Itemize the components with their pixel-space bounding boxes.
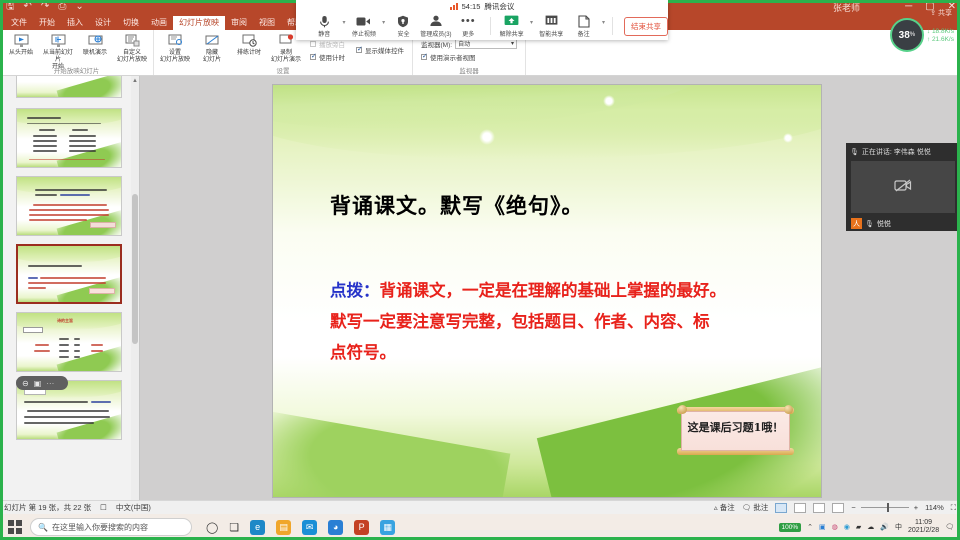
slide-body-text[interactable]: 点拨：背诵课文，一定是在理解的基础上掌握的最好。 默写一定要注意写完整，包括题目… xyxy=(330,275,800,368)
video-caret-icon[interactable]: ▾ xyxy=(380,19,387,33)
note-icon xyxy=(578,15,590,28)
ribbon-group-start-slideshow: 从头开始 从当前幻灯片 开始 联机演示 自定义 幻灯片放映 开始放映 xyxy=(0,30,154,75)
comment-icon[interactable]: ▣ xyxy=(34,379,42,388)
network-upload-label: ↑ 21.6K/s xyxy=(927,36,954,43)
volume-icon[interactable]: 🔊 xyxy=(880,523,889,531)
presenter-view-label: 使用演示者视图 xyxy=(430,52,476,62)
chevron-up-icon[interactable]: ⌃ xyxy=(807,523,813,531)
use-timings-label: 使用计时 xyxy=(319,52,345,62)
use-timings-checkbox[interactable] xyxy=(310,54,316,60)
list-item[interactable] xyxy=(16,76,122,98)
video-tile-header: 🎙 正在讲话: 李伟森 悦悦 xyxy=(846,143,960,160)
setup-slideshow-button[interactable]: 设置 幻灯片放映 xyxy=(158,31,192,66)
scroll-banner-text: 这是课后习题1哦！ xyxy=(677,419,794,435)
smart-share-button[interactable]: 智能共享 xyxy=(535,15,567,38)
zoom-handle[interactable] xyxy=(887,503,889,512)
slide-count-label[interactable]: 幻灯片 第 19 张，共 22 张 xyxy=(4,502,91,513)
mute-caret-icon[interactable]: ▾ xyxy=(340,19,347,33)
signal-bars-icon xyxy=(450,3,458,10)
ribbon-tab-3[interactable]: 设计 xyxy=(89,16,117,30)
antivirus-icon[interactable]: ◍ xyxy=(832,523,838,531)
file-explorer-icon[interactable]: ▤ xyxy=(276,520,291,535)
network-speed-widget[interactable]: 38% ↓ 18.8K/s ↑ 21.6K/s xyxy=(890,18,954,52)
share-icon: ⇪ xyxy=(930,10,938,17)
presenter-view-row[interactable]: 使用演示者视图 xyxy=(421,52,517,62)
presenter-view-checkbox[interactable] xyxy=(421,54,427,60)
slide-canvas[interactable]: 背诵课文。默写《绝句》。 点拨：背诵课文，一定是在理解的基础上掌握的最好。 默写… xyxy=(273,85,821,497)
show-media-controls-row[interactable]: 显示媒体控件 xyxy=(356,45,404,55)
decor-sparkle-1 xyxy=(479,129,495,145)
present-online-button[interactable]: 联机演示 xyxy=(78,31,112,66)
network-percent-unit: % xyxy=(910,32,915,38)
slide-body-line-2: 默写一定要注意写完整，包括题目、作者、内容、标 xyxy=(330,312,710,331)
list-item[interactable]: 20 ★ 诗的主旨 xyxy=(16,312,122,372)
monitor-select[interactable]: 自动 ▾ xyxy=(455,39,517,49)
setup-slideshow-label: 设置 幻灯片放映 xyxy=(160,50,190,64)
screen-share-icon xyxy=(504,15,519,28)
play-from-start-icon xyxy=(13,33,30,49)
fit-slide-icon[interactable]: ⛶ xyxy=(951,503,956,513)
thumbnail-image[interactable] xyxy=(16,176,122,236)
photos-icon[interactable]: ▦ xyxy=(380,520,395,535)
powerpoint-window: 🖫 ↶ ↷ ⎙ ⌄ 张老师 ─ ▢ ✕ ⇪ 共享 文件开始插入设计切换动画幻灯片… xyxy=(0,0,960,540)
powerpoint-icon[interactable]: P xyxy=(354,520,369,535)
windows-start-icon[interactable] xyxy=(0,520,30,534)
show-media-controls-label: 显示媒体控件 xyxy=(365,45,404,55)
camera-icon xyxy=(356,15,371,28)
ribbon-group-label-setup: 设置 xyxy=(154,65,412,75)
custom-slideshow-label: 自定义 幻灯片放映 xyxy=(117,50,147,64)
network-download-label: ↓ 18.8K/s xyxy=(927,28,954,35)
thumbnail-hover-toolbar[interactable]: ⊖ ▣ ⋯ xyxy=(16,376,68,390)
ribbon-tab-7[interactable]: 审阅 xyxy=(225,16,253,30)
thumbnail-image[interactable] xyxy=(16,76,122,98)
play-narration-label: 播放旁白 xyxy=(319,39,345,49)
scroll-knob-left xyxy=(678,405,687,414)
language-label[interactable]: 中文(中国) xyxy=(116,502,151,513)
stop-share-label: 解除共享 xyxy=(500,29,524,38)
present-online-label: 联机演示 xyxy=(83,50,107,57)
slide-body-line-3: 点符号。 xyxy=(330,343,396,362)
scroll-up-arrow-icon[interactable]: ▲ xyxy=(132,78,138,84)
scroll-knob-right xyxy=(784,405,793,414)
view-reading-button[interactable] xyxy=(813,503,825,513)
clock[interactable]: 11:09 2021/2/28 xyxy=(908,519,939,536)
video-tile-footer: 人 🎙 悦悦 xyxy=(851,218,891,229)
list-item[interactable]: 17 ★ xyxy=(16,108,122,168)
comments-button[interactable]: 🗨 批注 xyxy=(742,502,769,513)
custom-slideshow-button[interactable]: 自定义 幻灯片放映 xyxy=(115,31,149,66)
start-from-current-button[interactable]: 从当前幻灯片 开始 xyxy=(41,31,75,66)
record-show-icon xyxy=(278,33,295,49)
task-view-icon[interactable]: ❏ xyxy=(229,521,239,534)
stop-share-button[interactable]: 解除共享 xyxy=(495,15,527,38)
clock-time: 11:09 xyxy=(908,519,939,528)
view-slide-sorter-button[interactable] xyxy=(794,503,806,513)
stop-video-label: 停止视频 xyxy=(352,29,376,38)
notes-caret-icon[interactable]: ▾ xyxy=(600,19,607,33)
zoom-out-icon[interactable]: ⊖ xyxy=(22,379,29,388)
shield-icon xyxy=(397,15,409,28)
hide-slide-button[interactable]: 隐藏 幻灯片 xyxy=(195,31,229,66)
security-button[interactable]: 安全 xyxy=(387,15,419,38)
avatar: 人 xyxy=(851,218,862,229)
setup-show-icon xyxy=(167,33,184,49)
monitor-select-value: 自动 xyxy=(458,39,470,48)
hide-slide-icon xyxy=(204,33,221,49)
participant-name-label: 悦悦 xyxy=(877,219,891,229)
browser-icon[interactable]: ◉ xyxy=(844,523,850,531)
network-speeds: ↓ 18.8K/s ↑ 21.6K/s xyxy=(927,28,954,43)
view-normal-button[interactable] xyxy=(775,503,787,513)
microphone-icon: 🎙 xyxy=(850,148,859,156)
hide-slide-label: 隐藏 幻灯片 xyxy=(203,50,221,64)
rehearse-timings-button[interactable]: 排练计时 xyxy=(232,31,266,66)
more-button[interactable]: ••• 更多 xyxy=(452,15,484,38)
network-percent: 38 xyxy=(899,30,910,41)
rehearse-timings-icon xyxy=(241,33,258,49)
security-label: 安全 xyxy=(397,29,409,38)
mute-button[interactable]: 静音 xyxy=(308,15,340,38)
system-tray: 100% ⌃ ▣ ◍ ◉ ▰ ☁ 🔊 中 11:09 2021/2/28 🗨 xyxy=(779,519,960,536)
start-from-beginning-label: 从头开始 xyxy=(9,50,33,57)
slide-stage: 背诵课文。默写《绝句》。 点拨：背诵课文，一定是在理解的基础上掌握的最好。 默写… xyxy=(140,76,960,514)
more-icon[interactable]: ⋯ xyxy=(46,379,54,388)
thumbnail-image[interactable] xyxy=(16,108,122,168)
thumbnail-image[interactable]: 诗的主旨 xyxy=(16,312,122,372)
search-icon: 🔍 xyxy=(38,523,48,532)
play-narration-checkbox[interactable] xyxy=(310,41,316,47)
thumbnail-scroll-area[interactable]: 17 ★ xyxy=(0,76,131,514)
ribbon-tab-6[interactable]: 幻灯片放映 xyxy=(173,16,225,30)
chevron-down-icon: ▾ xyxy=(511,40,514,47)
smart-share-label: 智能共享 xyxy=(539,29,563,38)
clock-icon[interactable]: ◕ xyxy=(328,520,343,535)
ribbon-tab-4[interactable]: 切换 xyxy=(117,16,145,30)
slide-thumbnail-pane[interactable]: 17 ★ xyxy=(0,76,140,514)
decor-sparkle-2 xyxy=(603,95,615,107)
share-border-top-right xyxy=(668,0,960,3)
show-media-controls-checkbox[interactable] xyxy=(356,47,362,53)
share-caret-icon[interactable]: ▾ xyxy=(528,19,535,33)
share-button[interactable]: ⇪ 共享 xyxy=(930,8,952,18)
decor-sparkle-3 xyxy=(783,133,793,143)
edge-icon[interactable]: e xyxy=(250,520,265,535)
network-icon[interactable]: ▰ xyxy=(856,523,861,531)
thumbnail-scrollbar-thumb[interactable] xyxy=(132,194,138,344)
meeting-app-name: 腾讯会议 xyxy=(484,1,514,12)
clock-date: 2021/2/28 xyxy=(908,527,939,536)
ribbon-tab-5[interactable]: 动画 xyxy=(145,16,173,30)
video-tile-body[interactable] xyxy=(851,161,955,213)
toolbar-divider-2 xyxy=(612,17,613,35)
notes-button[interactable]: ▵ 备注 xyxy=(714,502,735,513)
slide-body-highlight: 点拨： xyxy=(330,281,380,300)
video-participant-tile[interactable]: 🎙 正在讲话: 李伟森 悦悦 人 🎙 悦悦 xyxy=(846,143,960,231)
thumbnail-slide-title: 诗的主旨 xyxy=(57,318,73,324)
battery-icon[interactable]: 100% xyxy=(779,523,802,532)
end-share-button[interactable]: 结束共享 xyxy=(624,17,668,36)
list-item[interactable]: 19 ★ xyxy=(16,244,122,304)
notification-icon[interactable]: 🗨 xyxy=(945,523,954,531)
start-from-beginning-button[interactable]: 从头开始 xyxy=(4,31,38,66)
share-border-left xyxy=(0,0,3,540)
cloud-icon[interactable]: ☁ xyxy=(867,523,874,531)
zoom-in-button[interactable]: + xyxy=(909,503,918,512)
camera-off-icon xyxy=(894,178,912,196)
ellipsis-icon: ••• xyxy=(461,15,476,28)
taskbar-items: ◯ ❏ e ▤ ✉ ◕ P ▦ xyxy=(206,520,395,535)
present-online-icon xyxy=(87,33,104,49)
monitor-combo-row[interactable]: 监视器(M): 自动 ▾ xyxy=(421,39,517,49)
manage-members-button[interactable]: 管理成员(3) xyxy=(420,15,452,38)
meeting-toolbar[interactable]: 54:15 腾讯会议 静音 ▾ 停止视频 ▾ xyxy=(296,0,668,40)
zoom-level-label[interactable]: 114% xyxy=(925,503,944,512)
custom-show-icon xyxy=(124,33,141,49)
play-narration-checkbox-row[interactable]: 播放旁白 xyxy=(310,39,345,49)
slide-title-text[interactable]: 背诵课文。默写《绝句》。 xyxy=(330,190,584,220)
view-slideshow-button[interactable] xyxy=(832,503,844,513)
ribbon-tab-1[interactable]: 开始 xyxy=(33,16,61,30)
notes-button[interactable]: 备注 xyxy=(567,15,599,38)
notes-label: 备注 xyxy=(578,29,590,38)
accessibility-icon[interactable]: ☐ xyxy=(100,503,107,512)
ribbon-group-label-monitors: 监视器 xyxy=(413,65,525,75)
use-timings-checkbox-row[interactable]: 使用计时 xyxy=(310,52,345,62)
list-item[interactable]: 18 ★ xyxy=(16,176,122,236)
stop-video-button[interactable]: 停止视频 xyxy=(348,15,380,38)
zoom-track[interactable] xyxy=(861,507,909,508)
mute-label: 静音 xyxy=(318,29,330,38)
display-icon[interactable]: ▣ xyxy=(819,523,826,531)
search-input[interactable]: 🔍 在这里输入你要搜索的内容 xyxy=(30,518,192,536)
status-bar: 幻灯片 第 19 张，共 22 张 ☐ 中文(中国) ▵ 备注 🗨 批注 − +… xyxy=(0,500,960,514)
zoom-slider[interactable]: − + xyxy=(851,503,918,512)
whiteboard-icon xyxy=(545,15,558,28)
ime-icon[interactable]: 中 xyxy=(895,522,902,532)
members-icon xyxy=(429,15,443,28)
ribbon-tab-2[interactable]: 插入 xyxy=(61,16,89,30)
slide-body-line-1: 背诵课文，一定是在理解的基础上掌握的最好。 xyxy=(380,281,727,300)
scroll-banner[interactable]: 这是课后习题1哦！ xyxy=(677,403,794,455)
monitor-combo-label: 监视器(M): xyxy=(421,39,452,49)
rehearse-timings-label: 排练计时 xyxy=(237,50,261,57)
network-gauge: 38% xyxy=(890,18,924,52)
zoom-out-button[interactable]: − xyxy=(851,503,860,512)
share-border-top xyxy=(0,0,296,3)
cortana-icon[interactable]: ◯ xyxy=(206,521,218,534)
meeting-timer: 54:15 xyxy=(462,2,481,11)
ribbon-tab-8[interactable]: 视图 xyxy=(253,16,281,30)
ribbon-group-label-start: 开始放映幻灯片 xyxy=(0,65,153,75)
manage-members-label: 管理成员(3) xyxy=(420,29,451,38)
meeting-header: 54:15 腾讯会议 xyxy=(296,0,668,12)
ribbon-tab-0[interactable]: 文件 xyxy=(5,16,33,30)
record-slideshow-label: 录制 幻灯片演示 xyxy=(271,50,301,64)
thumbnail-scrollbar[interactable]: ▲ ▼ xyxy=(131,76,139,514)
mic-muted-icon: 🎙 xyxy=(865,220,874,228)
speaking-status-label: 正在讲话: 李伟森 悦悦 xyxy=(862,147,931,157)
toolbar-divider xyxy=(490,17,491,35)
play-from-current-icon xyxy=(50,33,67,49)
more-label: 更多 xyxy=(462,29,474,38)
microphone-icon xyxy=(319,15,330,28)
mail-icon[interactable]: ✉ xyxy=(302,520,317,535)
thumbnail-image-current[interactable] xyxy=(16,244,122,304)
meeting-controls: 静音 ▾ 停止视频 ▾ 安全 管理成员(3) xyxy=(296,12,668,40)
search-placeholder: 在这里输入你要搜索的内容 xyxy=(52,522,148,533)
